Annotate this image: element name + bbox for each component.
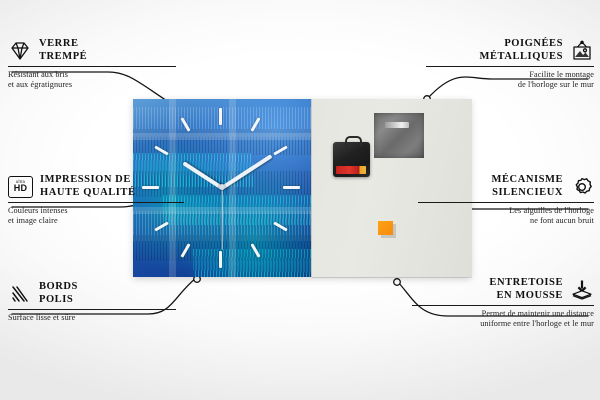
hanging-loop-icon <box>345 136 362 146</box>
feature-title: VERRE TREMPÉ <box>39 38 87 63</box>
gear-icon <box>570 176 594 198</box>
foam-spacer-arrow-icon <box>570 279 594 301</box>
feature-title: MÉCANISME SILENCIEUX <box>492 174 563 199</box>
polished-edges-icon <box>8 283 32 305</box>
divider <box>8 309 176 310</box>
feature-entretoise-en-mousse[interactable]: ENTRETOISE EN MOUSSE Permet de maintenir… <box>412 277 594 328</box>
feature-impression-haute-qualite[interactable]: ultra HD IMPRESSION DE HAUTE QUALITÉ Cou… <box>8 174 184 225</box>
clock-mechanism <box>333 142 370 177</box>
second-hand <box>221 188 222 250</box>
divider <box>426 66 594 67</box>
feature-title: BORDS POLIS <box>39 281 78 306</box>
feature-title: IMPRESSION DE HAUTE QUALITÉ <box>40 174 136 199</box>
clock-marker <box>219 108 222 125</box>
feature-title: POIGNÉES MÉTALLIQUES <box>480 38 563 63</box>
clock-marker <box>219 251 222 268</box>
divider <box>8 202 184 203</box>
feature-verre-trempe[interactable]: VERRE TREMPÉ Résistant aux bris et aux é… <box>8 38 176 89</box>
ultra-hd-badge-icon: ultra HD <box>8 176 33 198</box>
battery <box>336 166 366 174</box>
diamond-icon <box>8 40 32 62</box>
feature-description: Surface lisse et sûre <box>8 313 176 323</box>
feature-description: Facilite le montage de l'horloge sur le … <box>426 70 594 89</box>
divider <box>8 66 176 67</box>
feature-description: Les aiguilles de l'horloge ne font aucun… <box>418 206 594 225</box>
clock-hub <box>219 184 225 190</box>
hanger-slot <box>385 122 409 128</box>
feature-bords-polis[interactable]: BORDS POLIS Surface lisse et sûre <box>8 281 176 323</box>
clock-marker <box>283 186 300 189</box>
endpoint-marker <box>394 279 401 286</box>
feature-title: ENTRETOISE EN MOUSSE <box>489 277 563 302</box>
infographic-canvas: VERRE TREMPÉ Résistant aux bris et aux é… <box>0 0 600 400</box>
feature-description: Résistant aux bris et aux égratignures <box>8 70 176 89</box>
feature-poignees-metalliques[interactable]: POIGNÉES MÉTALLIQUES Facilite le montage… <box>426 38 594 89</box>
feature-mecanisme-silencieux[interactable]: MÉCANISME SILENCIEUX Les aiguilles de l'… <box>418 174 594 225</box>
feature-description: Couleurs intenses et image claire <box>8 206 184 225</box>
metal-hanger-plate <box>374 113 424 158</box>
divider <box>418 202 594 203</box>
feature-description: Permet de maintenir une distance uniform… <box>412 309 594 328</box>
ultra-hd-large-text: HD <box>14 184 27 193</box>
divider <box>412 305 594 306</box>
foam-spacer-pad <box>378 221 393 235</box>
picture-frame-hanging-icon <box>570 40 594 62</box>
